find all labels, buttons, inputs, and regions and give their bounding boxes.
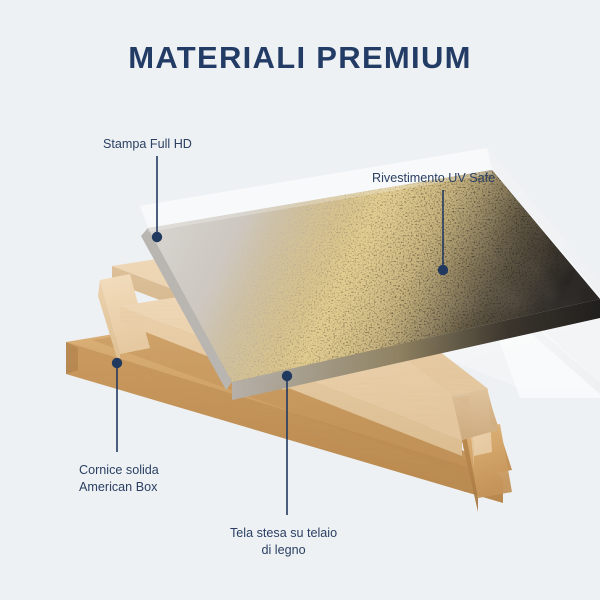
callout-dot-stampa xyxy=(152,232,162,242)
callout-line-1: Cornice solida xyxy=(79,463,159,477)
callout-line-2: American Box xyxy=(79,480,157,494)
callout-line-1: Tela stesa su telaio xyxy=(230,526,337,540)
callout-dot-rivestimento xyxy=(438,265,448,275)
callout-dot-tela xyxy=(282,371,292,381)
callout-line-2: di legno xyxy=(230,542,337,559)
callout-label-stampa-full-hd: Stampa Full HD xyxy=(103,136,192,153)
exploded-canvas-print-diagram xyxy=(0,0,600,600)
callout-label-rivestimento-uv-safe: Rivestimento UV Safe xyxy=(372,170,495,187)
callout-label-cornice-solida-american-box: Cornice solidaAmerican Box xyxy=(79,462,159,495)
callout-label-tela-stesa-su-telaio-di-legno: Tela stesa su telaiodi legno xyxy=(230,525,337,558)
illustration-canvas: MATERIALI PREMIUM xyxy=(0,0,600,600)
callout-dot-cornice xyxy=(112,358,122,368)
